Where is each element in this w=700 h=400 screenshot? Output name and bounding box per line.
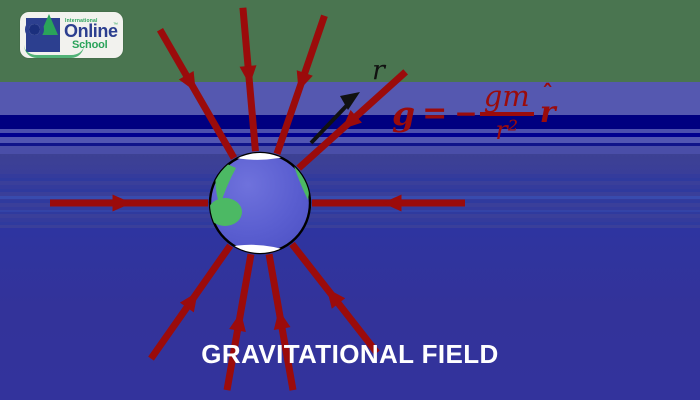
formula-unit-vector: ˆ r (540, 98, 556, 128)
formula-denominator: r² (495, 116, 518, 144)
gravitational-field-illustration: International Online School ™ r g = − gm… (0, 0, 700, 400)
field-line-up-left (160, 30, 234, 158)
formula-numerator: gm (480, 82, 534, 112)
formula-minus: − (454, 97, 477, 130)
formula-fraction: gm r² (480, 82, 534, 144)
field-line-right-arrowhead (383, 195, 402, 212)
formula-equals: = (422, 96, 447, 131)
field-line-left-arrowhead (113, 195, 132, 212)
logo-trademark: ™ (113, 22, 118, 28)
gravitational-field-formula: g = − gm r² ˆ r (392, 82, 556, 144)
formula-unit-vector-hat: ˆ (542, 83, 553, 105)
field-line-up-arrowhead (297, 70, 313, 91)
logo-text-online: Online (64, 22, 118, 40)
logo-ring-inner-dot (29, 24, 40, 35)
logo[interactable]: International Online School ™ (20, 12, 123, 58)
radius-label: r (372, 57, 385, 84)
page-title: GRAVITATIONAL FIELD (0, 339, 700, 370)
formula-lhs-g: g (392, 94, 415, 133)
logo-text-school: School (72, 40, 107, 51)
